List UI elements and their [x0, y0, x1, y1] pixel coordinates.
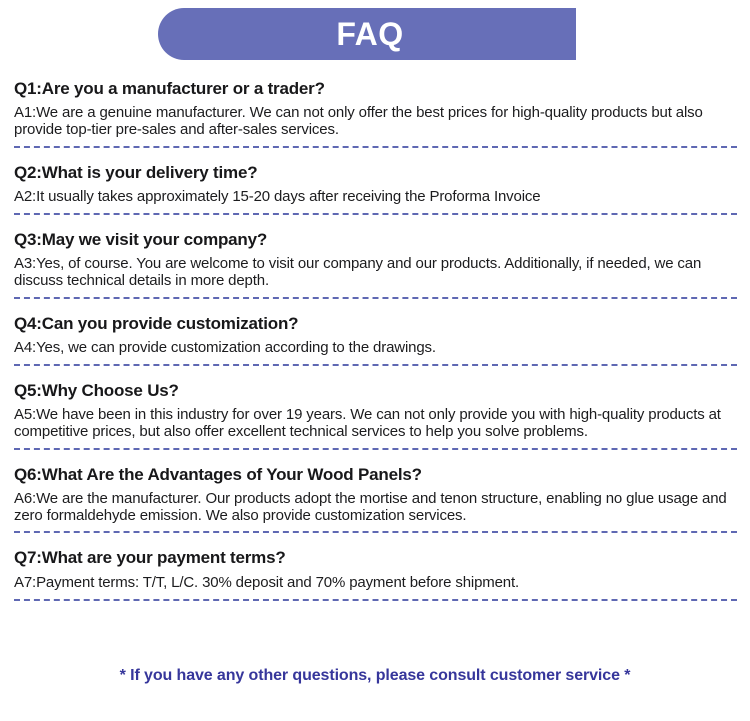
faq-question: Q4:Can you provide customization?	[14, 299, 737, 334]
page-title: FAQ	[336, 18, 403, 50]
faq-item: Q6:What Are the Advantages of Your Wood …	[14, 450, 737, 534]
faq-question: Q6:What Are the Advantages of Your Wood …	[14, 450, 737, 485]
customer-service-note: * If you have any other questions, pleas…	[0, 666, 750, 685]
faq-item: Q5:Why Choose Us? A5:We have been in thi…	[14, 366, 737, 450]
faq-answer: A6:We are the manufacturer. Our products…	[14, 485, 737, 525]
faq-item: Q2:What is your delivery time? A2:It usu…	[14, 148, 737, 215]
faq-question: Q2:What is your delivery time?	[14, 148, 737, 183]
faq-item: Q3:May we visit your company? A3:Yes, of…	[14, 215, 737, 299]
faq-question: Q1:Are you a manufacturer or a trader?	[14, 72, 737, 99]
faq-answer: A4:Yes, we can provide customization acc…	[14, 334, 737, 357]
faq-item: Q1:Are you a manufacturer or a trader? A…	[14, 72, 737, 148]
faq-banner-shape: FAQ	[158, 8, 576, 60]
faq-answer: A5:We have been in this industry for ove…	[14, 401, 737, 441]
faq-answer: A7:Payment terms: T/T, L/C. 30% deposit …	[14, 569, 737, 592]
faq-banner: FAQ	[158, 8, 576, 60]
faq-item: Q7:What are your payment terms? A7:Payme…	[14, 533, 737, 600]
faq-answer: A3:Yes, of course. You are welcome to vi…	[14, 250, 737, 290]
faq-list: Q1:Are you a manufacturer or a trader? A…	[14, 72, 737, 601]
faq-answer: A1:We are a genuine manufacturer. We can…	[14, 99, 737, 139]
faq-item: Q4:Can you provide customization? A4:Yes…	[14, 299, 737, 366]
faq-page: FAQ Q1:Are you a manufacturer or a trade…	[0, 0, 750, 721]
faq-question: Q7:What are your payment terms?	[14, 533, 737, 568]
faq-divider	[14, 599, 737, 601]
faq-question: Q5:Why Choose Us?	[14, 366, 737, 401]
faq-answer: A2:It usually takes approximately 15-20 …	[14, 183, 737, 206]
faq-question: Q3:May we visit your company?	[14, 215, 737, 250]
